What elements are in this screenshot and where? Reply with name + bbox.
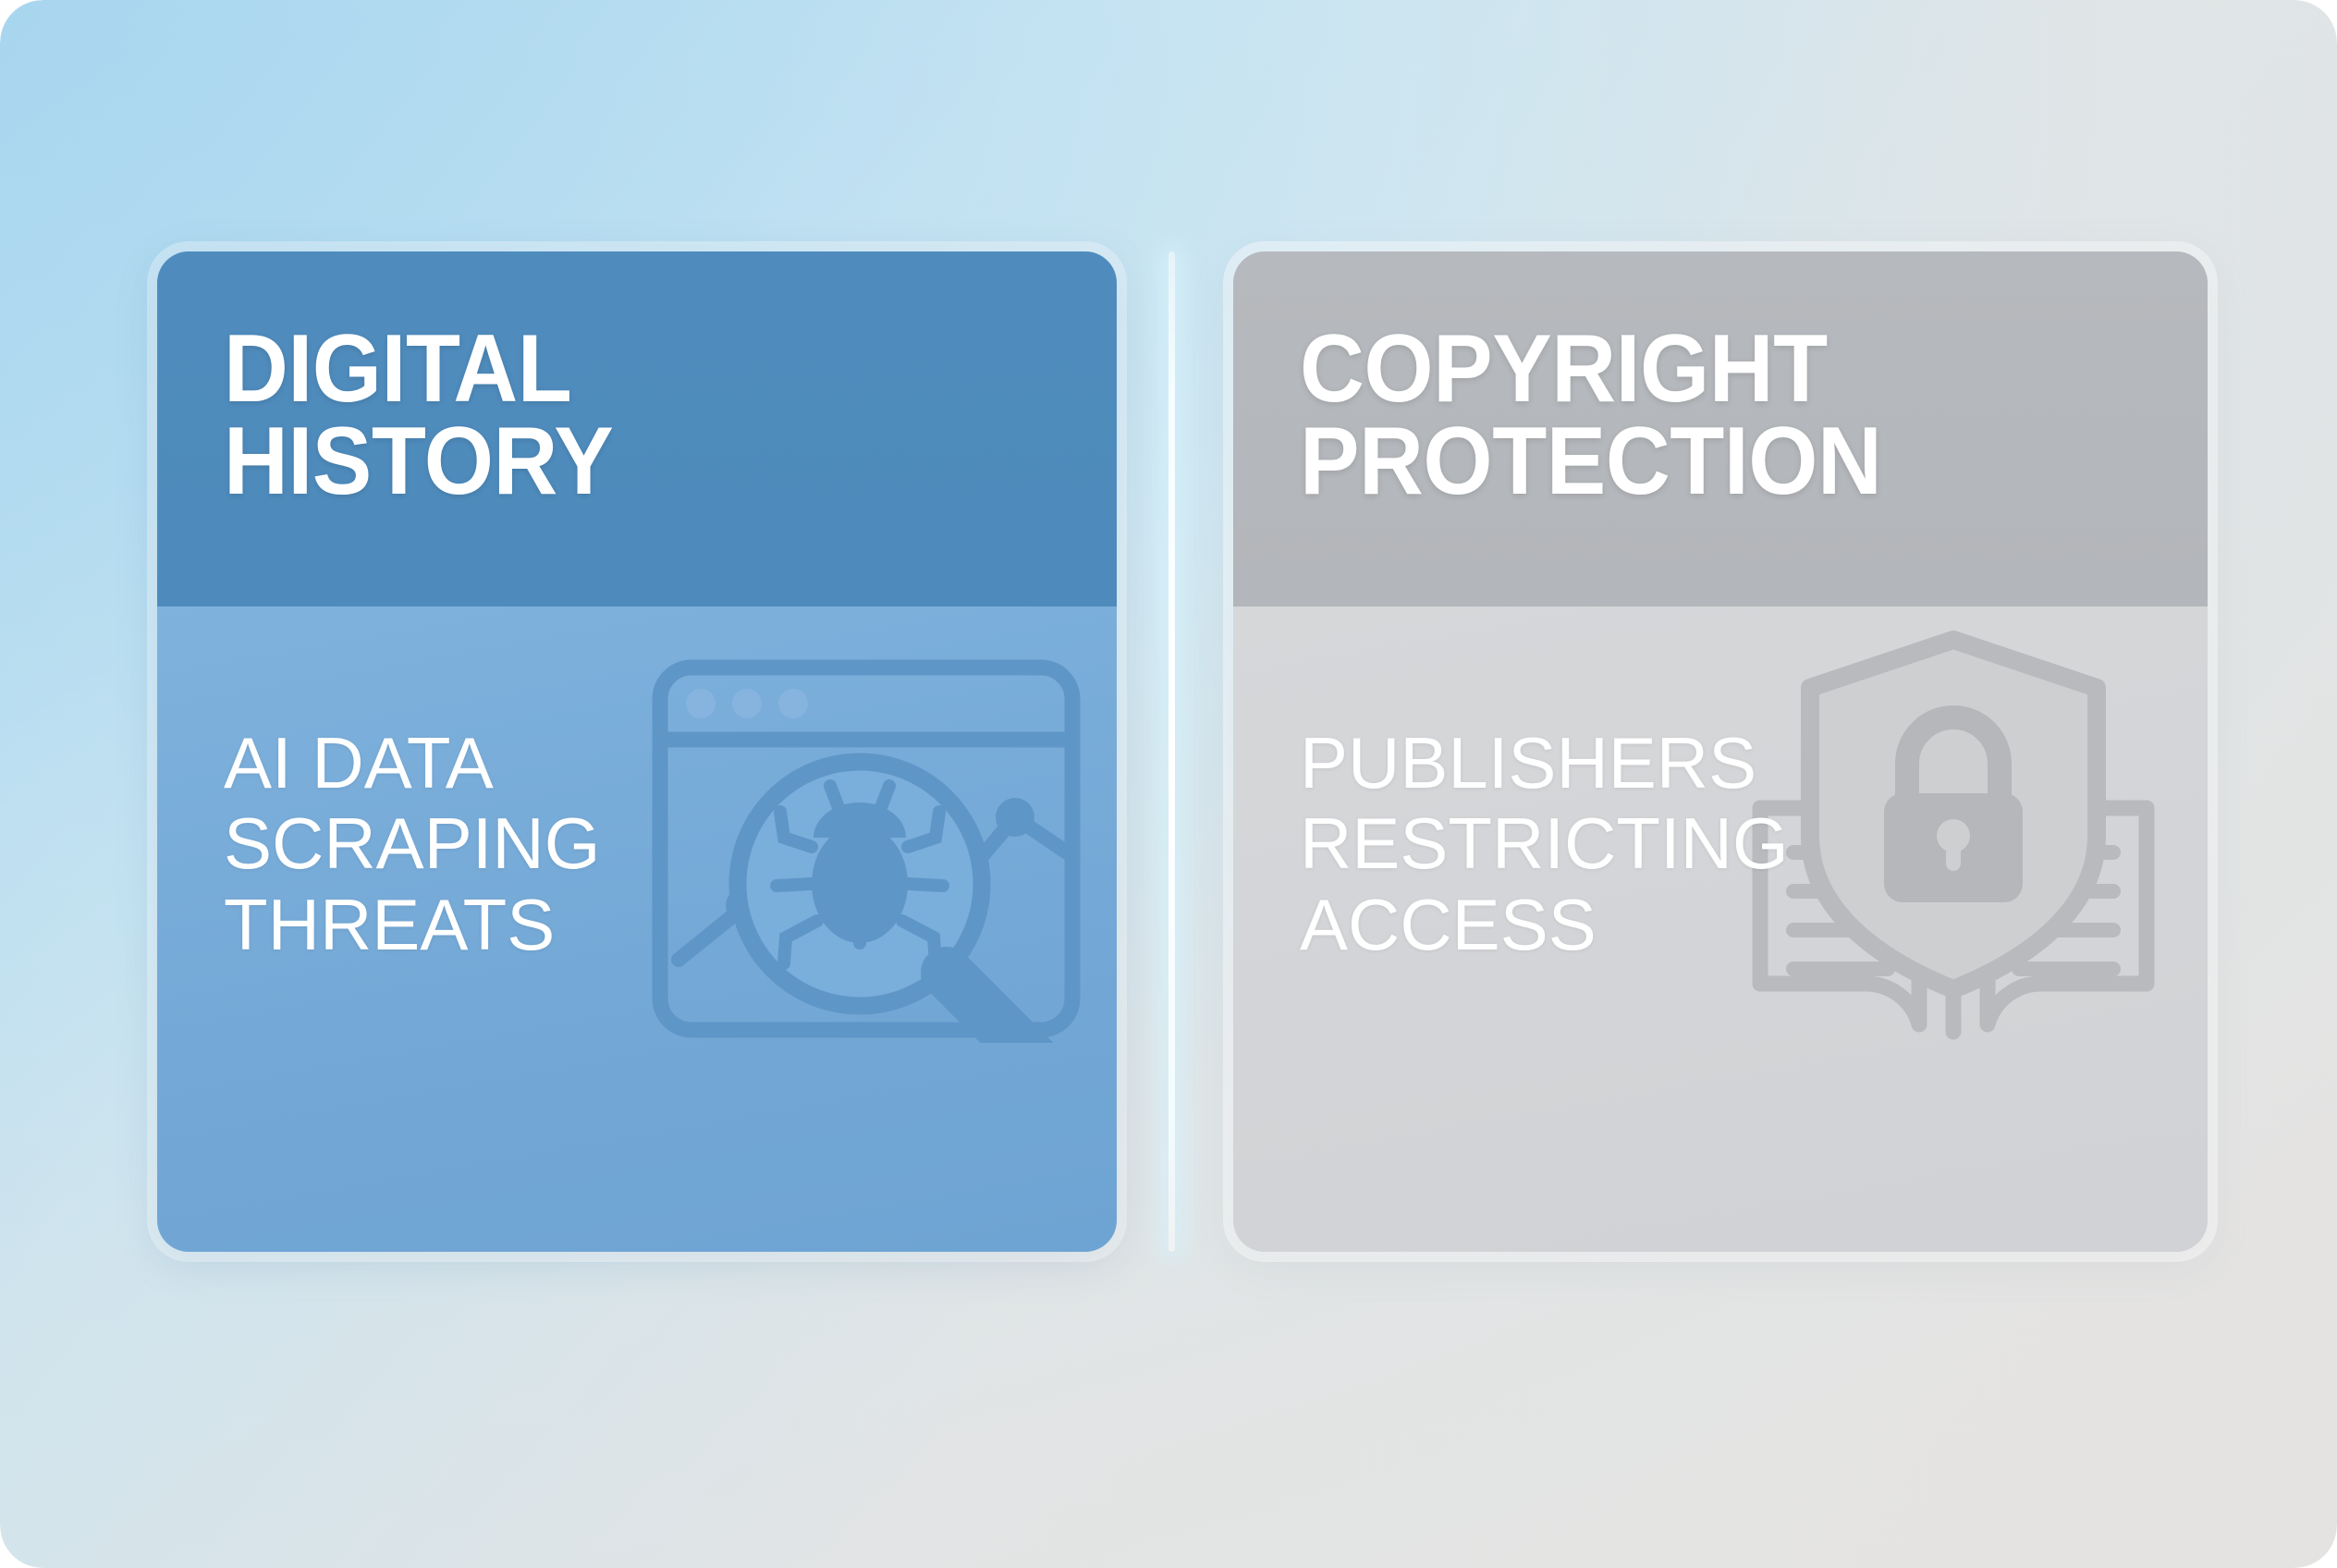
card-subtitle-digital-history: AI DATA SCRAPING THREATS [224, 723, 1117, 965]
card-body-copyright-protection: PUBLISHERS RESTRICTING ACCESS [1233, 606, 2208, 1252]
card-digital-history[interactable]: DIGITAL HISTORY [157, 251, 1117, 1252]
comparison-graphic: DIGITAL HISTORY [0, 0, 2337, 1568]
corner-mask-top-right [2294, 0, 2337, 43]
corner-mask-bottom-left [0, 1525, 43, 1568]
corner-mask-bottom-right [2294, 1525, 2337, 1568]
vertical-divider [1168, 251, 1175, 1252]
card-body-digital-history: AI DATA SCRAPING THREATS [157, 606, 1117, 1252]
corner-mask-top-left [0, 0, 43, 43]
card-copyright-protection[interactable]: COPYRIGHT PROTECTION [1233, 251, 2208, 1252]
card-title-copyright-protection: COPYRIGHT PROTECTION [1300, 324, 2144, 508]
card-subtitle-copyright-protection: PUBLISHERS RESTRICTING ACCESS [1300, 723, 2208, 965]
card-header-copyright-protection: COPYRIGHT PROTECTION [1233, 251, 2208, 606]
card-title-digital-history: DIGITAL HISTORY [224, 324, 1054, 508]
cards-row: DIGITAL HISTORY [0, 0, 2337, 1568]
card-header-digital-history: DIGITAL HISTORY [157, 251, 1117, 606]
